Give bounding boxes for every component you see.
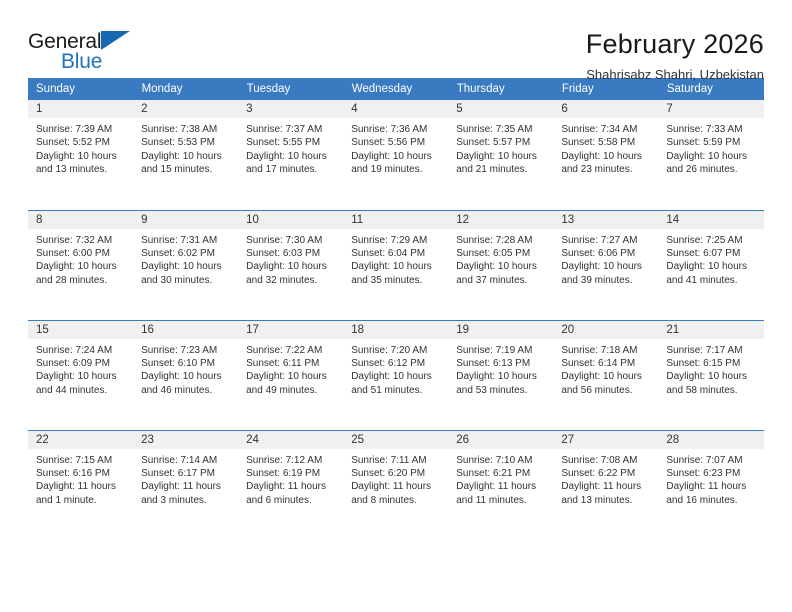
day-number: 3: [238, 100, 343, 118]
day-cell[interactable]: 24 Sunrise: 7:12 AM Sunset: 6:19 PM Dayl…: [238, 430, 343, 540]
brand-logo[interactable]: General Blue: [28, 28, 158, 78]
daylight-text-line1: Daylight: 10 hours: [456, 150, 547, 163]
day-number: 19: [448, 321, 553, 339]
day-number: 21: [658, 321, 763, 339]
day-details: Sunrise: 7:12 AM Sunset: 6:19 PM Dayligh…: [238, 449, 343, 508]
sunrise-text: Sunrise: 7:22 AM: [246, 344, 337, 357]
day-cell[interactable]: 3 Sunrise: 7:37 AM Sunset: 5:55 PM Dayli…: [238, 100, 343, 210]
calendar-body: 1 Sunrise: 7:39 AM Sunset: 5:52 PM Dayli…: [28, 100, 764, 540]
day-number: 28: [658, 431, 763, 449]
daylight-text-line2: and 8 minutes.: [351, 494, 442, 507]
daylight-text-line2: and 1 minute.: [36, 494, 127, 507]
daylight-text-line1: Daylight: 11 hours: [456, 480, 547, 493]
day-details: Sunrise: 7:33 AM Sunset: 5:59 PM Dayligh…: [658, 118, 763, 177]
sunrise-text: Sunrise: 7:14 AM: [141, 454, 232, 467]
day-cell[interactable]: 23 Sunrise: 7:14 AM Sunset: 6:17 PM Dayl…: [133, 430, 238, 540]
day-number: 12: [448, 211, 553, 229]
daylight-text-line1: Daylight: 11 hours: [561, 480, 652, 493]
sunrise-text: Sunrise: 7:29 AM: [351, 234, 442, 247]
day-number: 24: [238, 431, 343, 449]
day-cell[interactable]: 17 Sunrise: 7:22 AM Sunset: 6:11 PM Dayl…: [238, 320, 343, 430]
sunset-text: Sunset: 6:14 PM: [561, 357, 652, 370]
sunset-text: Sunset: 6:09 PM: [36, 357, 127, 370]
day-number: 18: [343, 321, 448, 339]
daylight-text-line1: Daylight: 10 hours: [561, 370, 652, 383]
daylight-text-line2: and 39 minutes.: [561, 274, 652, 287]
day-number: 20: [553, 321, 658, 339]
calendar-page: General Blue February 2026 Shahrisabz Sh…: [0, 0, 792, 612]
day-cell[interactable]: 1 Sunrise: 7:39 AM Sunset: 5:52 PM Dayli…: [28, 100, 133, 210]
day-number: 25: [343, 431, 448, 449]
day-number: 17: [238, 321, 343, 339]
day-number: 7: [658, 100, 763, 118]
sunrise-text: Sunrise: 7:20 AM: [351, 344, 442, 357]
daylight-text-line2: and 46 minutes.: [141, 384, 232, 397]
daylight-text-line1: Daylight: 11 hours: [351, 480, 442, 493]
sunset-text: Sunset: 6:07 PM: [666, 247, 757, 260]
daylight-text-line1: Daylight: 11 hours: [666, 480, 757, 493]
sunrise-text: Sunrise: 7:19 AM: [456, 344, 547, 357]
sunset-text: Sunset: 5:56 PM: [351, 136, 442, 149]
daylight-text-line2: and 51 minutes.: [351, 384, 442, 397]
daylight-text-line2: and 56 minutes.: [561, 384, 652, 397]
daylight-text-line2: and 21 minutes.: [456, 163, 547, 176]
daylight-text-line1: Daylight: 10 hours: [561, 150, 652, 163]
daylight-text-line1: Daylight: 10 hours: [141, 370, 232, 383]
sunrise-text: Sunrise: 7:39 AM: [36, 123, 127, 136]
day-cell[interactable]: 4 Sunrise: 7:36 AM Sunset: 5:56 PM Dayli…: [343, 100, 448, 210]
sunrise-text: Sunrise: 7:33 AM: [666, 123, 757, 136]
sunrise-text: Sunrise: 7:15 AM: [36, 454, 127, 467]
sunrise-text: Sunrise: 7:35 AM: [456, 123, 547, 136]
day-number: 6: [553, 100, 658, 118]
day-cell[interactable]: 26 Sunrise: 7:10 AM Sunset: 6:21 PM Dayl…: [448, 430, 553, 540]
day-details: Sunrise: 7:14 AM Sunset: 6:17 PM Dayligh…: [133, 449, 238, 508]
day-number: 23: [133, 431, 238, 449]
page-subtitle: Shahrisabz Shahri, Uzbekistan: [158, 66, 764, 84]
daylight-text-line2: and 23 minutes.: [561, 163, 652, 176]
day-cell[interactable]: 18 Sunrise: 7:20 AM Sunset: 6:12 PM Dayl…: [343, 320, 448, 430]
daylight-text-line1: Daylight: 10 hours: [561, 260, 652, 273]
day-cell[interactable]: 19 Sunrise: 7:19 AM Sunset: 6:13 PM Dayl…: [448, 320, 553, 430]
daylight-text-line2: and 58 minutes.: [666, 384, 757, 397]
daylight-text-line1: Daylight: 11 hours: [141, 480, 232, 493]
day-cell[interactable]: 21 Sunrise: 7:17 AM Sunset: 6:15 PM Dayl…: [658, 320, 763, 430]
daylight-text-line1: Daylight: 10 hours: [36, 150, 127, 163]
day-details: Sunrise: 7:10 AM Sunset: 6:21 PM Dayligh…: [448, 449, 553, 508]
daylight-text-line1: Daylight: 10 hours: [666, 370, 757, 383]
daylight-text-line2: and 13 minutes.: [36, 163, 127, 176]
day-cell[interactable]: 25 Sunrise: 7:11 AM Sunset: 6:20 PM Dayl…: [343, 430, 448, 540]
day-details: Sunrise: 7:07 AM Sunset: 6:23 PM Dayligh…: [658, 449, 763, 508]
daylight-text-line2: and 28 minutes.: [36, 274, 127, 287]
daylight-text-line2: and 35 minutes.: [351, 274, 442, 287]
day-details: Sunrise: 7:20 AM Sunset: 6:12 PM Dayligh…: [343, 339, 448, 398]
daylight-text-line1: Daylight: 10 hours: [141, 150, 232, 163]
calendar-week-row: 22 Sunrise: 7:15 AM Sunset: 6:16 PM Dayl…: [28, 430, 764, 540]
sunrise-text: Sunrise: 7:31 AM: [141, 234, 232, 247]
day-details: Sunrise: 7:34 AM Sunset: 5:58 PM Dayligh…: [553, 118, 658, 177]
sunset-text: Sunset: 6:21 PM: [456, 467, 547, 480]
day-number: 10: [238, 211, 343, 229]
day-details: Sunrise: 7:15 AM Sunset: 6:16 PM Dayligh…: [28, 449, 133, 508]
sunrise-text: Sunrise: 7:23 AM: [141, 344, 232, 357]
day-details: Sunrise: 7:25 AM Sunset: 6:07 PM Dayligh…: [658, 229, 763, 288]
sunset-text: Sunset: 6:20 PM: [351, 467, 442, 480]
day-number: 8: [28, 211, 133, 229]
sunrise-text: Sunrise: 7:34 AM: [561, 123, 652, 136]
brand-word-blue: Blue: [61, 50, 102, 74]
daylight-text-line1: Daylight: 10 hours: [351, 370, 442, 383]
day-cell[interactable]: 5 Sunrise: 7:35 AM Sunset: 5:57 PM Dayli…: [448, 100, 553, 210]
day-cell[interactable]: 7 Sunrise: 7:33 AM Sunset: 5:59 PM Dayli…: [658, 100, 763, 210]
day-details: Sunrise: 7:36 AM Sunset: 5:56 PM Dayligh…: [343, 118, 448, 177]
daylight-text-line1: Daylight: 10 hours: [36, 370, 127, 383]
daylight-text-line2: and 19 minutes.: [351, 163, 442, 176]
daylight-text-line2: and 11 minutes.: [456, 494, 547, 507]
daylight-text-line1: Daylight: 10 hours: [141, 260, 232, 273]
day-number: 26: [448, 431, 553, 449]
sunrise-text: Sunrise: 7:10 AM: [456, 454, 547, 467]
day-number: 5: [448, 100, 553, 118]
daylight-text-line2: and 44 minutes.: [36, 384, 127, 397]
daylight-text-line1: Daylight: 11 hours: [246, 480, 337, 493]
daylight-text-line1: Daylight: 10 hours: [246, 260, 337, 273]
day-number: 1: [28, 100, 133, 118]
sunrise-text: Sunrise: 7:17 AM: [666, 344, 757, 357]
sunset-text: Sunset: 6:15 PM: [666, 357, 757, 370]
sunrise-text: Sunrise: 7:11 AM: [351, 454, 442, 467]
daylight-text-line2: and 53 minutes.: [456, 384, 547, 397]
day-details: Sunrise: 7:28 AM Sunset: 6:05 PM Dayligh…: [448, 229, 553, 288]
day-details: Sunrise: 7:35 AM Sunset: 5:57 PM Dayligh…: [448, 118, 553, 177]
sunrise-text: Sunrise: 7:37 AM: [246, 123, 337, 136]
sunset-text: Sunset: 5:52 PM: [36, 136, 127, 149]
sunrise-text: Sunrise: 7:32 AM: [36, 234, 127, 247]
day-details: Sunrise: 7:17 AM Sunset: 6:15 PM Dayligh…: [658, 339, 763, 398]
calendar-week-row: 1 Sunrise: 7:39 AM Sunset: 5:52 PM Dayli…: [28, 100, 764, 210]
day-cell[interactable]: 8 Sunrise: 7:32 AM Sunset: 6:00 PM Dayli…: [28, 210, 133, 320]
sunset-text: Sunset: 6:04 PM: [351, 247, 442, 260]
daylight-text-line2: and 13 minutes.: [561, 494, 652, 507]
day-number: 16: [133, 321, 238, 339]
day-details: Sunrise: 7:39 AM Sunset: 5:52 PM Dayligh…: [28, 118, 133, 177]
sunrise-text: Sunrise: 7:27 AM: [561, 234, 652, 247]
daylight-text-line1: Daylight: 10 hours: [456, 260, 547, 273]
day-cell[interactable]: 28 Sunrise: 7:07 AM Sunset: 6:23 PM Dayl…: [658, 430, 763, 540]
day-cell[interactable]: 11 Sunrise: 7:29 AM Sunset: 6:04 PM Dayl…: [343, 210, 448, 320]
sunrise-text: Sunrise: 7:36 AM: [351, 123, 442, 136]
sunrise-text: Sunrise: 7:25 AM: [666, 234, 757, 247]
day-details: Sunrise: 7:27 AM Sunset: 6:06 PM Dayligh…: [553, 229, 658, 288]
day-number: 11: [343, 211, 448, 229]
sunrise-text: Sunrise: 7:28 AM: [456, 234, 547, 247]
daylight-text-line1: Daylight: 10 hours: [666, 150, 757, 163]
day-cell[interactable]: 9 Sunrise: 7:31 AM Sunset: 6:02 PM Dayli…: [133, 210, 238, 320]
sunset-text: Sunset: 6:11 PM: [246, 357, 337, 370]
calendar-week-row: 8 Sunrise: 7:32 AM Sunset: 6:00 PM Dayli…: [28, 210, 764, 320]
sunset-text: Sunset: 6:00 PM: [36, 247, 127, 260]
day-cell[interactable]: 12 Sunrise: 7:28 AM Sunset: 6:05 PM Dayl…: [448, 210, 553, 320]
day-details: Sunrise: 7:18 AM Sunset: 6:14 PM Dayligh…: [553, 339, 658, 398]
sunset-text: Sunset: 6:17 PM: [141, 467, 232, 480]
day-details: Sunrise: 7:22 AM Sunset: 6:11 PM Dayligh…: [238, 339, 343, 398]
sunrise-text: Sunrise: 7:24 AM: [36, 344, 127, 357]
daylight-text-line2: and 17 minutes.: [246, 163, 337, 176]
day-cell[interactable]: 20 Sunrise: 7:18 AM Sunset: 6:14 PM Dayl…: [553, 320, 658, 430]
sunrise-sunset-calendar: Sunday Monday Tuesday Wednesday Thursday…: [28, 78, 764, 540]
daylight-text-line2: and 6 minutes.: [246, 494, 337, 507]
day-number: 15: [28, 321, 133, 339]
day-cell[interactable]: 14 Sunrise: 7:25 AM Sunset: 6:07 PM Dayl…: [658, 210, 763, 320]
day-details: Sunrise: 7:23 AM Sunset: 6:10 PM Dayligh…: [133, 339, 238, 398]
day-cell[interactable]: 15 Sunrise: 7:24 AM Sunset: 6:09 PM Dayl…: [28, 320, 133, 430]
sunset-text: Sunset: 5:59 PM: [666, 136, 757, 149]
sunrise-text: Sunrise: 7:08 AM: [561, 454, 652, 467]
sunrise-text: Sunrise: 7:30 AM: [246, 234, 337, 247]
daylight-text-line2: and 49 minutes.: [246, 384, 337, 397]
day-details: Sunrise: 7:38 AM Sunset: 5:53 PM Dayligh…: [133, 118, 238, 177]
weekday-header-sunday: Sunday: [28, 78, 133, 100]
day-number: 27: [553, 431, 658, 449]
daylight-text-line2: and 26 minutes.: [666, 163, 757, 176]
day-cell[interactable]: 6 Sunrise: 7:34 AM Sunset: 5:58 PM Dayli…: [553, 100, 658, 210]
daylight-text-line2: and 30 minutes.: [141, 274, 232, 287]
sunset-text: Sunset: 5:55 PM: [246, 136, 337, 149]
sunset-text: Sunset: 6:23 PM: [666, 467, 757, 480]
daylight-text-line1: Daylight: 10 hours: [351, 150, 442, 163]
page-title: February 2026: [158, 28, 764, 60]
daylight-text-line1: Daylight: 10 hours: [351, 260, 442, 273]
sunset-text: Sunset: 6:16 PM: [36, 467, 127, 480]
day-details: Sunrise: 7:24 AM Sunset: 6:09 PM Dayligh…: [28, 339, 133, 398]
daylight-text-line2: and 32 minutes.: [246, 274, 337, 287]
day-details: Sunrise: 7:37 AM Sunset: 5:55 PM Dayligh…: [238, 118, 343, 177]
day-cell[interactable]: 2 Sunrise: 7:38 AM Sunset: 5:53 PM Dayli…: [133, 100, 238, 210]
daylight-text-line1: Daylight: 10 hours: [666, 260, 757, 273]
calendar-week-row: 15 Sunrise: 7:24 AM Sunset: 6:09 PM Dayl…: [28, 320, 764, 430]
page-header: General Blue February 2026 Shahrisabz Sh…: [28, 0, 764, 72]
daylight-text-line1: Daylight: 10 hours: [456, 370, 547, 383]
day-cell[interactable]: 27 Sunrise: 7:08 AM Sunset: 6:22 PM Dayl…: [553, 430, 658, 540]
day-details: Sunrise: 7:32 AM Sunset: 6:00 PM Dayligh…: [28, 229, 133, 288]
daylight-text-line1: Daylight: 10 hours: [246, 370, 337, 383]
day-details: Sunrise: 7:19 AM Sunset: 6:13 PM Dayligh…: [448, 339, 553, 398]
daylight-text-line1: Daylight: 10 hours: [36, 260, 127, 273]
daylight-text-line2: and 37 minutes.: [456, 274, 547, 287]
sunrise-text: Sunrise: 7:07 AM: [666, 454, 757, 467]
sunset-text: Sunset: 6:10 PM: [141, 357, 232, 370]
daylight-text-line2: and 16 minutes.: [666, 494, 757, 507]
day-number: 14: [658, 211, 763, 229]
day-cell[interactable]: 10 Sunrise: 7:30 AM Sunset: 6:03 PM Dayl…: [238, 210, 343, 320]
daylight-text-line2: and 3 minutes.: [141, 494, 232, 507]
sunset-text: Sunset: 5:53 PM: [141, 136, 232, 149]
sunset-text: Sunset: 6:13 PM: [456, 357, 547, 370]
daylight-text-line2: and 15 minutes.: [141, 163, 232, 176]
sunset-text: Sunset: 5:58 PM: [561, 136, 652, 149]
sunrise-text: Sunrise: 7:18 AM: [561, 344, 652, 357]
day-details: Sunrise: 7:30 AM Sunset: 6:03 PM Dayligh…: [238, 229, 343, 288]
sunrise-text: Sunrise: 7:12 AM: [246, 454, 337, 467]
daylight-text-line1: Daylight: 11 hours: [36, 480, 127, 493]
day-number: 13: [553, 211, 658, 229]
day-details: Sunrise: 7:11 AM Sunset: 6:20 PM Dayligh…: [343, 449, 448, 508]
sunset-text: Sunset: 6:19 PM: [246, 467, 337, 480]
day-cell[interactable]: 22 Sunrise: 7:15 AM Sunset: 6:16 PM Dayl…: [28, 430, 133, 540]
day-details: Sunrise: 7:31 AM Sunset: 6:02 PM Dayligh…: [133, 229, 238, 288]
triangle-logo-icon: [101, 31, 130, 50]
day-cell[interactable]: 16 Sunrise: 7:23 AM Sunset: 6:10 PM Dayl…: [133, 320, 238, 430]
day-number: 9: [133, 211, 238, 229]
day-number: 4: [343, 100, 448, 118]
title-block: February 2026 Shahrisabz Shahri, Uzbekis…: [158, 28, 764, 84]
day-number: 2: [133, 100, 238, 118]
sunset-text: Sunset: 6:03 PM: [246, 247, 337, 260]
day-details: Sunrise: 7:29 AM Sunset: 6:04 PM Dayligh…: [343, 229, 448, 288]
sunset-text: Sunset: 6:12 PM: [351, 357, 442, 370]
sunset-text: Sunset: 6:02 PM: [141, 247, 232, 260]
daylight-text-line2: and 41 minutes.: [666, 274, 757, 287]
day-cell[interactable]: 13 Sunrise: 7:27 AM Sunset: 6:06 PM Dayl…: [553, 210, 658, 320]
sunrise-text: Sunrise: 7:38 AM: [141, 123, 232, 136]
day-number: 22: [28, 431, 133, 449]
sunset-text: Sunset: 5:57 PM: [456, 136, 547, 149]
sunset-text: Sunset: 6:05 PM: [456, 247, 547, 260]
daylight-text-line1: Daylight: 10 hours: [246, 150, 337, 163]
sunset-text: Sunset: 6:06 PM: [561, 247, 652, 260]
day-details: Sunrise: 7:08 AM Sunset: 6:22 PM Dayligh…: [553, 449, 658, 508]
sunset-text: Sunset: 6:22 PM: [561, 467, 652, 480]
